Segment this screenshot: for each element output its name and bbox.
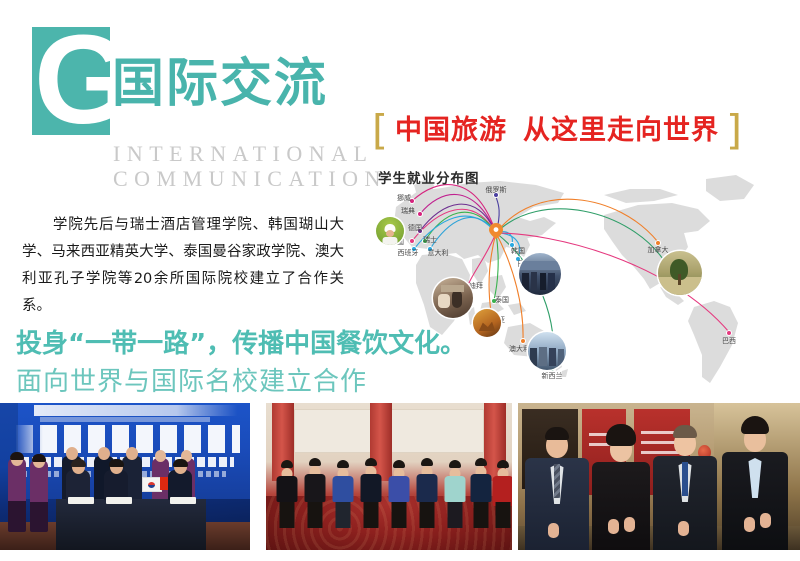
paragraph-text: 学院先后与瑞士酒店管理学院、韩国瑚山大学、马来西亚精英大学、泰国曼谷家政学院、澳… bbox=[22, 217, 344, 314]
banner-text-part2: 从这里走向世界 bbox=[523, 115, 719, 146]
students-photo-marker bbox=[528, 332, 566, 370]
map-caption: 学生就业分布图 bbox=[378, 167, 480, 187]
map-node-label: 新西兰 bbox=[542, 371, 563, 381]
page-subtitle-line2: COMMUNICATION bbox=[113, 166, 387, 192]
chef-photo-marker bbox=[376, 217, 404, 245]
poster-page: G 国际交流 INTERNATIONAL COMMUNICATION 学院先后与… bbox=[0, 0, 800, 561]
employment-distribution-map: 挪威瑞典德国法国瑞士西班牙意大利俄罗斯韩国日本迪拜泰国马来西亚澳大利亚新西兰加拿… bbox=[368, 155, 800, 400]
bracket-right-icon: ] bbox=[726, 110, 742, 151]
banner-text: 中国旅游从这里走向世界 bbox=[395, 117, 719, 144]
signing-ceremony-photo bbox=[0, 403, 250, 550]
body-paragraph: 学院先后与瑞士酒店管理学院、韩国瑚山大学、马来西亚精英大学、泰国曼谷家政学院、澳… bbox=[22, 212, 344, 320]
kitchen-photo-marker bbox=[433, 278, 473, 318]
delegation-group-photo bbox=[266, 403, 512, 550]
map-node-label: 西班牙 bbox=[398, 248, 419, 258]
international-guests-photo bbox=[518, 403, 800, 550]
page-subtitle-line1: INTERNATIONAL bbox=[113, 141, 373, 167]
landscape-photo-marker bbox=[658, 251, 702, 295]
map-node-label: 俄罗斯 bbox=[486, 185, 507, 195]
map-node-dot bbox=[409, 238, 415, 244]
korea-flag-icon bbox=[142, 477, 162, 492]
map-node-label: 瑞士 bbox=[423, 235, 437, 245]
map-node-label: 德国 bbox=[408, 223, 422, 233]
map-node-label: 意大利 bbox=[428, 248, 449, 258]
china-hub-icon bbox=[489, 223, 503, 239]
banner-text-part1: 中国旅游 bbox=[395, 115, 507, 146]
bracket-left-icon: [ bbox=[372, 110, 388, 151]
map-node-label: 挪威 bbox=[397, 193, 411, 203]
photo-strip bbox=[0, 403, 800, 550]
hotel-photo-marker bbox=[473, 309, 501, 337]
logo-letter: G bbox=[34, 28, 110, 134]
map-node-label: 泰国 bbox=[495, 295, 509, 305]
banner-headline: [ 中国旅游从这里走向世界 ] bbox=[372, 110, 742, 150]
map-node-label: 巴西 bbox=[722, 336, 736, 346]
map-node-label: 瑞典 bbox=[401, 206, 415, 216]
delegates-photo-marker bbox=[519, 253, 561, 295]
page-title: 国际交流 bbox=[112, 58, 328, 110]
map-node-dot bbox=[417, 211, 423, 217]
headline-world-cooperation: 面向世界与国际名校建立合作 bbox=[16, 361, 367, 398]
